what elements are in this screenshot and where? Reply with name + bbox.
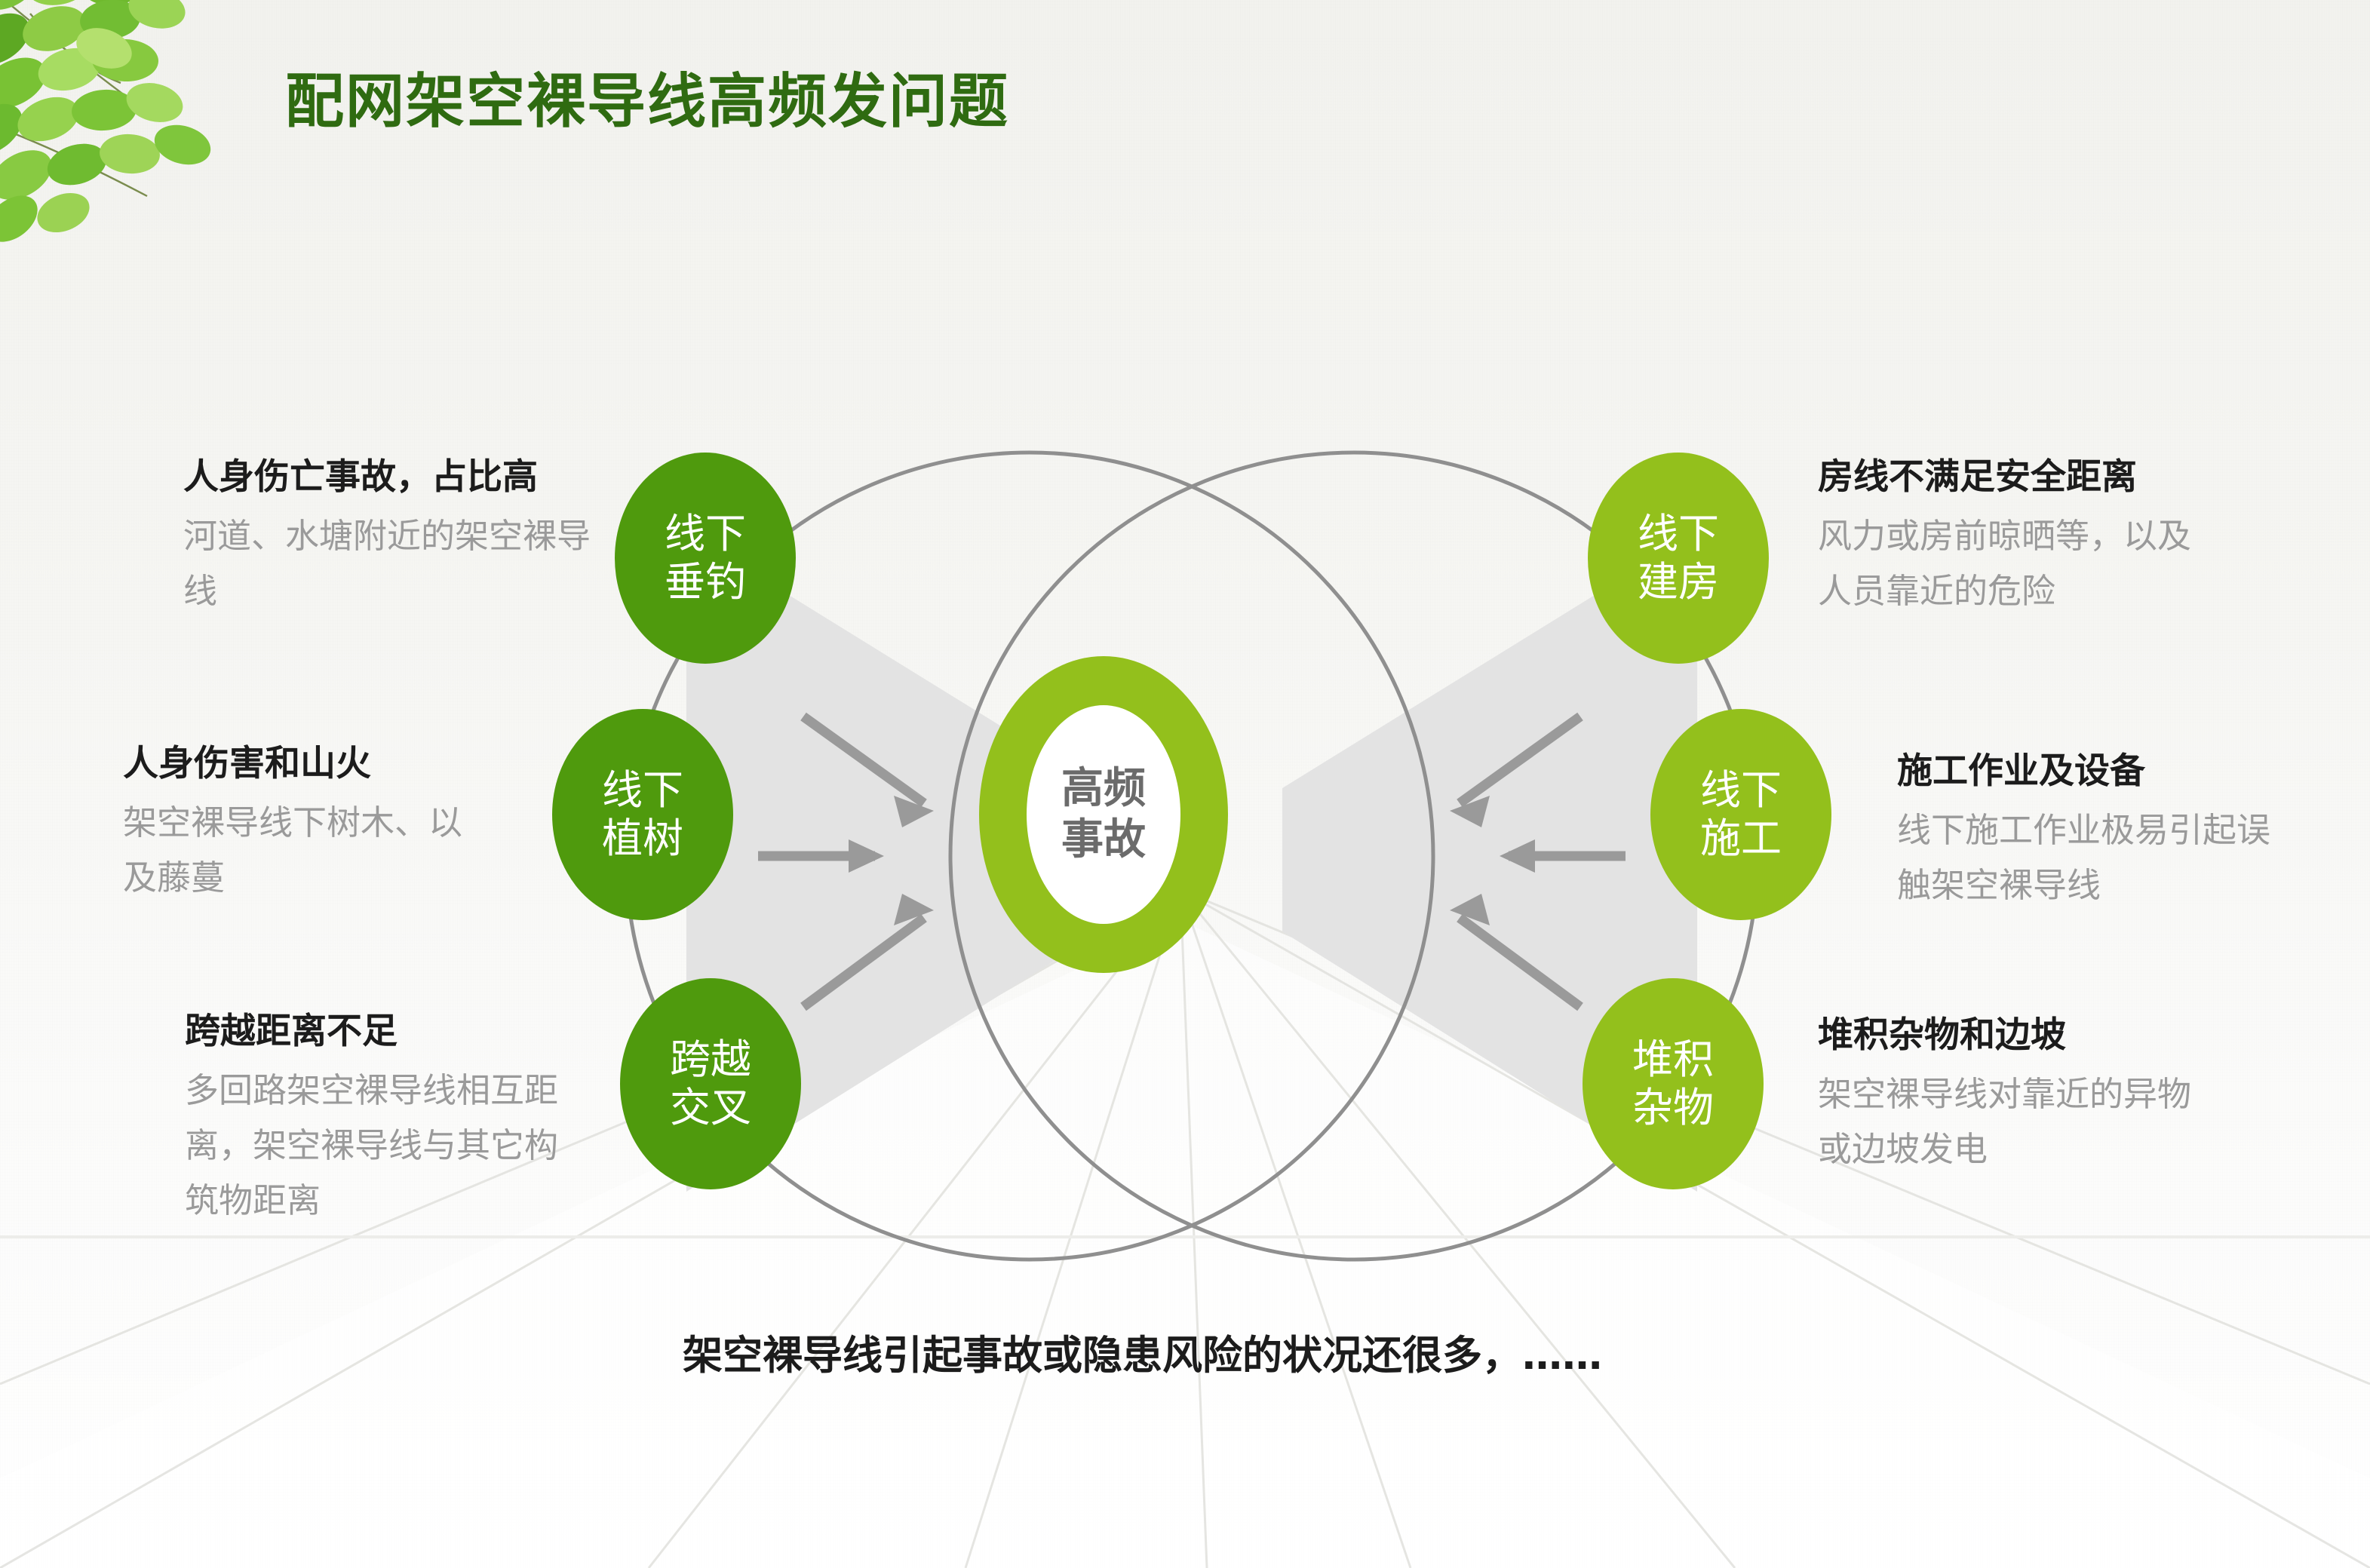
bubble-left-3-line1: 跨越 [670, 1036, 751, 1084]
bubble-left-3[interactable]: 跨越 交叉 [620, 978, 801, 1189]
info-block-right-2: 施工作业及设备 线下施工作业极易引起误触架空裸导线 [1897, 750, 2289, 913]
center-node-inner: 高频 事故 [1027, 705, 1180, 924]
center-label-line1: 高频 [1061, 763, 1146, 815]
info-block-left-1: 人身伤亡事故，占比高 河道、水塘附近的架空裸导线 [183, 456, 606, 619]
bubble-left-1-line2: 垂钓 [665, 558, 746, 606]
info-block-right-2-heading: 施工作业及设备 [1897, 750, 2289, 793]
bubble-right-3[interactable]: 堆积 杂物 [1583, 978, 1764, 1189]
bubble-left-1[interactable]: 线下 垂钓 [615, 453, 796, 664]
leaf-decoration-icon [0, 0, 294, 256]
bubble-right-2[interactable]: 线下 施工 [1650, 709, 1831, 920]
bubble-right-3-line2: 杂物 [1632, 1084, 1714, 1132]
info-block-left-1-heading: 人身伤亡事故，占比高 [183, 456, 606, 499]
bubble-right-1-line2: 建房 [1638, 558, 1719, 606]
bubble-left-3-line2: 交叉 [670, 1084, 751, 1132]
info-block-left-3-body: 多回路架空裸导线相互距离，架空裸导线与其它构筑物距离 [185, 1063, 562, 1229]
info-block-right-1: 房线不满足安全距离 风力或房前晾晒等，以及人员靠近的危险 [1818, 456, 2210, 619]
info-block-left-1-body: 河道、水塘附近的架空裸导线 [183, 509, 606, 619]
info-block-left-3: 跨越距离不足 多回路架空裸导线相互距离，架空裸导线与其它构筑物距离 [185, 1011, 562, 1229]
info-block-left-2-body: 架空裸导线下树木、以及藤蔓 [123, 796, 485, 906]
bubble-left-2-line1: 线下 [602, 766, 683, 815]
bubble-right-1[interactable]: 线下 建房 [1588, 453, 1769, 664]
bubble-left-2[interactable]: 线下 植树 [552, 709, 733, 920]
bubble-right-1-line1: 线下 [1638, 510, 1719, 558]
info-block-right-3-body: 架空裸导线对靠近的异物或边坡发电 [1818, 1067, 2195, 1177]
footer-caption: 架空裸导线引起事故或隐患风险的状况还很多，…… [683, 1324, 1602, 1381]
info-block-right-3-heading: 堆积杂物和边坡 [1818, 1014, 2195, 1057]
bubble-right-2-line1: 线下 [1700, 766, 1782, 815]
bubble-left-2-line2: 植树 [602, 815, 683, 863]
center-label-line2: 事故 [1061, 815, 1146, 866]
bubble-right-2-line2: 施工 [1700, 815, 1782, 863]
info-block-right-2-body: 线下施工作业极易引起误触架空裸导线 [1897, 803, 2289, 913]
bubble-left-1-line1: 线下 [665, 510, 746, 558]
info-block-right-1-heading: 房线不满足安全距离 [1818, 456, 2210, 499]
bubble-right-3-line1: 堆积 [1632, 1036, 1714, 1084]
info-block-right-3: 堆积杂物和边坡 架空裸导线对靠近的异物或边坡发电 [1818, 1014, 2195, 1177]
center-node[interactable]: 高频 事故 [979, 656, 1228, 973]
info-block-left-3-heading: 跨越距离不足 [185, 1011, 562, 1053]
info-block-left-2-heading: 人身伤害和山火 [123, 743, 485, 785]
info-block-left-2: 人身伤害和山火 架空裸导线下树木、以及藤蔓 [123, 743, 485, 906]
page-title: 配网架空裸导线高频发问题 [285, 54, 1009, 139]
diagram-container: 高频 事故 线下 垂钓 线下 植树 跨越 交叉 线下 建房 线下 施工 堆积 杂… [619, 411, 1765, 1301]
info-block-right-1-body: 风力或房前晾晒等，以及人员靠近的危险 [1818, 509, 2210, 619]
